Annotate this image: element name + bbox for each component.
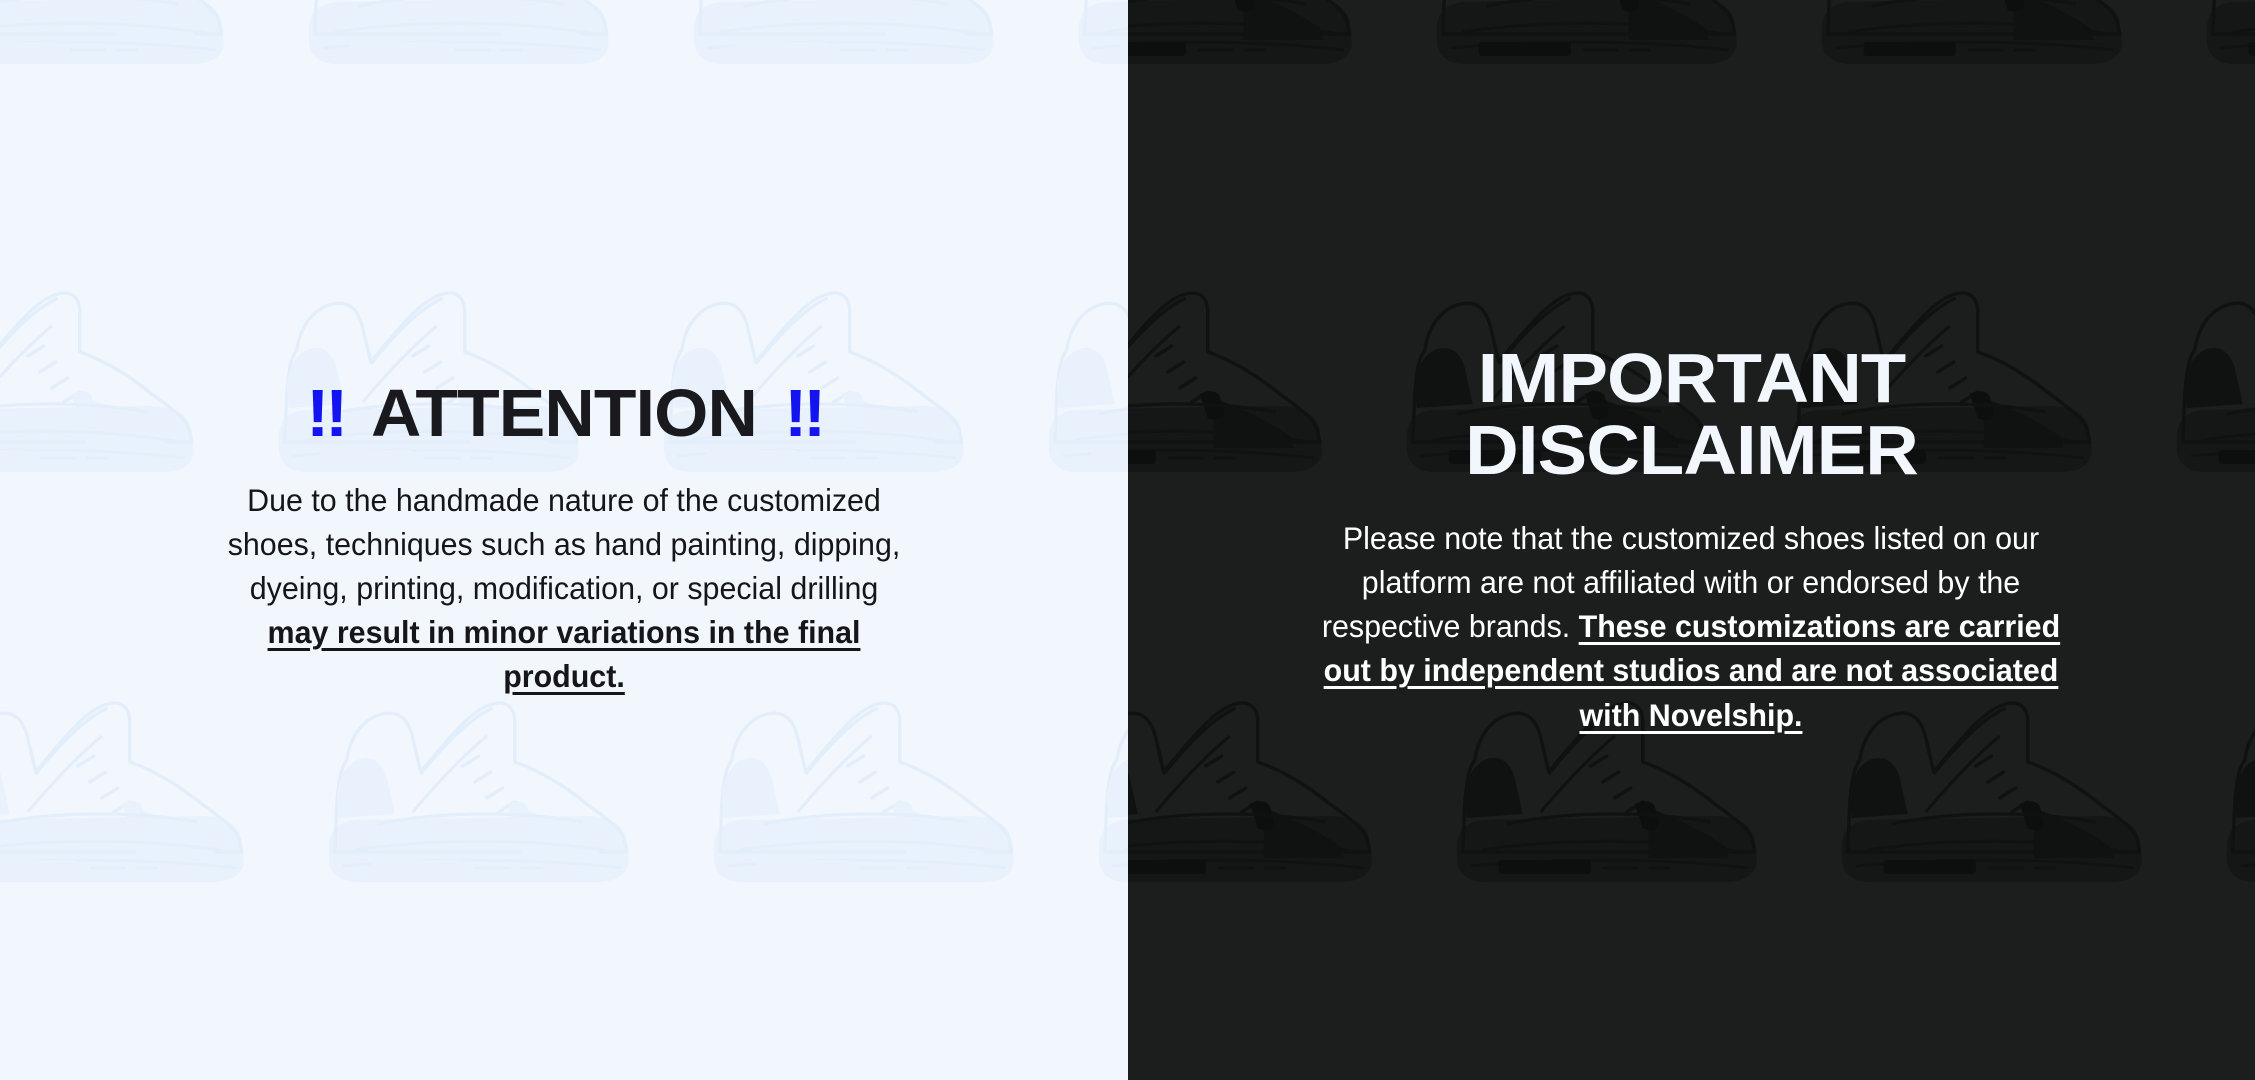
disclaimer-heading: IMPORTANTDISCLAIMER: [1465, 343, 1918, 486]
attention-content: ‼ATTENTION‼ Due to the handmade nature o…: [0, 381, 1128, 698]
disclaimer-heading-line-1: IMPORTANT: [1477, 339, 1905, 417]
attention-panel: ‼ATTENTION‼ Due to the handmade nature o…: [0, 0, 1128, 1080]
disclaimer-content: IMPORTANTDISCLAIMER Please note that the…: [1128, 343, 2255, 736]
disclaimer-panel: IMPORTANTDISCLAIMER Please note that the…: [1128, 0, 2255, 1080]
double-exclamation-icon-right: ‼: [784, 376, 822, 451]
disclaimer-heading-line-2: DISCLAIMER: [1465, 411, 1918, 489]
attention-body: Due to the handmade nature of the custom…: [226, 478, 902, 698]
disclaimer-body: Please note that the customized shoes li…: [1310, 516, 2072, 736]
attention-heading-text: ATTENTION: [371, 376, 757, 451]
attention-heading: ‼ATTENTION‼: [306, 381, 822, 447]
disclaimer-split-banner: ‼ATTENTION‼ Due to the handmade nature o…: [0, 0, 2255, 1080]
attention-body-plain: Due to the handmade nature of the custom…: [227, 482, 900, 606]
attention-body-emphasis: may result in minor variations in the fi…: [267, 614, 860, 694]
double-exclamation-icon-left: ‼: [306, 376, 344, 451]
